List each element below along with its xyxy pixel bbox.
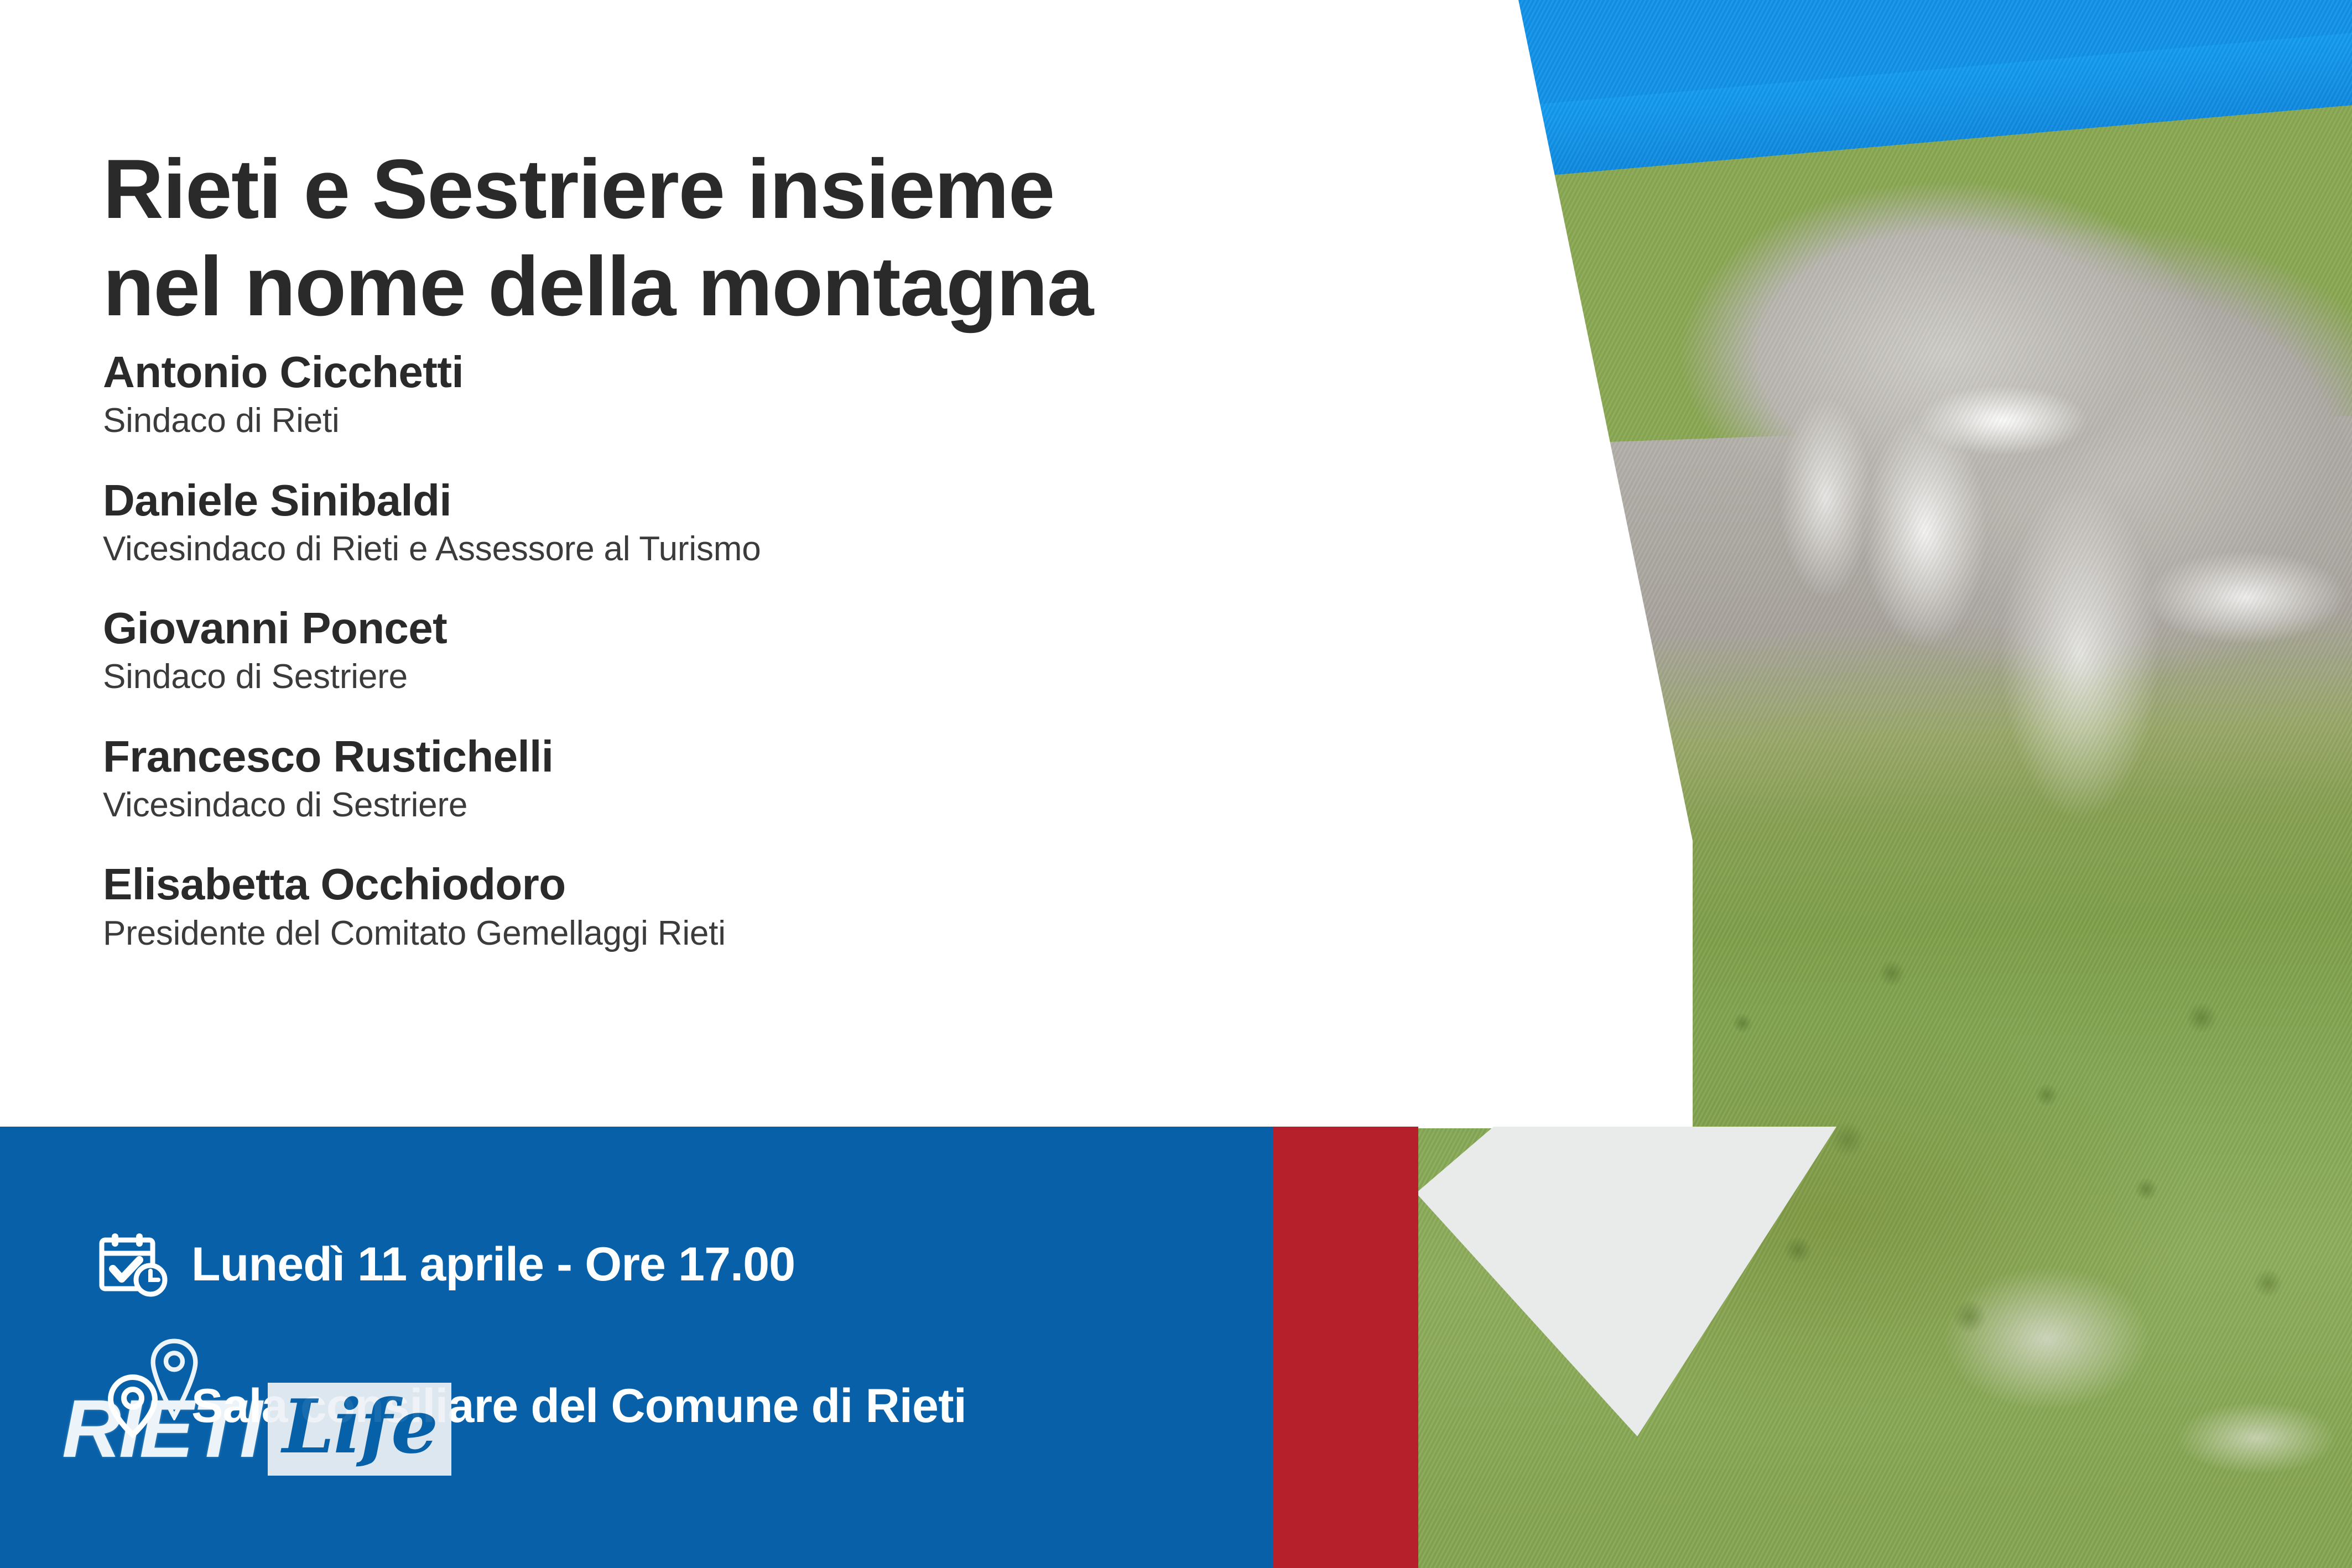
event-date-text: Lunedì 11 aprile - Ore 17.00 xyxy=(191,1241,795,1288)
speaker-name: Daniele Sinibaldi xyxy=(103,477,1403,524)
logo-brand-secondary-box: Life xyxy=(268,1383,451,1476)
page-title: Rieti e Sestriere insieme nel nome della… xyxy=(103,140,1458,336)
speaker-role: Vicesindaco di Sestriere xyxy=(103,785,1403,825)
headline-line-1: Rieti e Sestriere insieme xyxy=(103,140,1458,238)
logo-brand-secondary: Life xyxy=(282,1389,437,1463)
speaker-name: Giovanni Poncet xyxy=(103,605,1403,652)
footer-red-bar xyxy=(1273,1127,1418,1568)
speaker-role: Vicesindaco di Rieti e Assessore al Turi… xyxy=(103,529,1403,569)
list-item: Antonio Cicchetti Sindaco di Rieti xyxy=(103,348,1403,441)
speaker-name: Elisabetta Occhiodoro xyxy=(103,861,1403,908)
rieti-life-logo: RIETI Life xyxy=(62,1383,451,1476)
event-poster: Rieti e Sestriere insieme nel nome della… xyxy=(0,0,2352,1568)
list-item: Giovanni Poncet Sindaco di Sestriere xyxy=(103,605,1403,697)
speaker-role: Sindaco di Sestriere xyxy=(103,657,1403,697)
calendar-clock-icon xyxy=(97,1229,168,1300)
headline-line-2: nel nome della montagna xyxy=(103,238,1458,335)
speaker-name: Antonio Cicchetti xyxy=(103,348,1403,396)
list-item: Daniele Sinibaldi Vicesindaco di Rieti e… xyxy=(103,477,1403,570)
location-pin-icon xyxy=(144,1337,205,1420)
speaker-name: Francesco Rustichelli xyxy=(103,733,1403,780)
list-item: Francesco Rustichelli Vicesindaco di Ses… xyxy=(103,733,1403,826)
event-date-row: Lunedì 11 aprile - Ore 17.00 xyxy=(97,1229,795,1300)
speaker-role: Presidente del Comitato Gemellaggi Rieti xyxy=(103,913,1403,954)
speaker-role: Sindaco di Rieti xyxy=(103,400,1403,441)
speaker-list: Antonio Cicchetti Sindaco di Rieti Danie… xyxy=(103,348,1403,954)
list-item: Elisabetta Occhiodoro Presidente del Com… xyxy=(103,861,1403,954)
